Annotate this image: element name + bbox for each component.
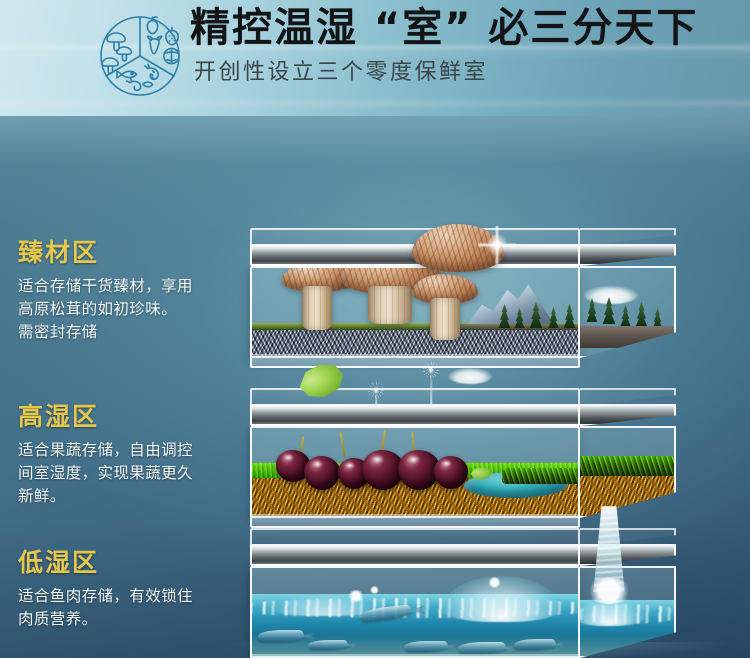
dandelion-pappus xyxy=(423,362,439,378)
page-subtitle: 开创性设立三个零度保鲜室 xyxy=(194,58,488,88)
cherry-scene-side xyxy=(580,428,674,516)
page-title: 精控温湿 “室” 必三分天下 xyxy=(190,4,698,52)
sparkle-icon xyxy=(478,226,516,264)
drawer-metal-rim xyxy=(250,404,580,426)
header-band: 精控温湿 “室” 必三分天下 开创性设立三个零度保鲜室 xyxy=(0,0,750,116)
zone-heading: 低湿区 xyxy=(18,548,246,578)
drawer-metal-rim-side xyxy=(580,404,676,426)
zone-body-line: 高原松茸的如初珍味。 xyxy=(18,298,246,321)
drawer-high-humidity[interactable] xyxy=(250,388,720,538)
drawer-front-glass xyxy=(250,426,580,518)
drawer-front-glass xyxy=(250,566,580,658)
cherry-stalk xyxy=(340,432,346,458)
zone-body-line: 需密封存储 xyxy=(18,321,246,344)
splash xyxy=(488,577,501,588)
splash xyxy=(348,590,364,602)
drawer-premium-ingredient[interactable] xyxy=(250,228,720,378)
pine-tree xyxy=(620,305,631,326)
drawer-base-slab xyxy=(250,514,580,528)
splash xyxy=(586,578,632,604)
drawer-side-glass xyxy=(580,266,676,358)
zone-body-line: 适合果蔬存储，自由调控 xyxy=(18,439,246,462)
zone-body-line: 肉质营养。 xyxy=(18,608,246,631)
cherry-meadow-scene xyxy=(252,428,578,516)
ocean-fish-scene xyxy=(252,568,578,656)
moss-bank xyxy=(580,456,676,476)
dirt-ledge xyxy=(580,326,676,348)
drawer-metal-rim-side xyxy=(580,244,676,266)
moss-bank xyxy=(502,468,580,484)
zone-description-high-humidity: 高湿区 适合果蔬存储，自由调控 间室湿度，实现果蔬更久 新鲜。 xyxy=(18,402,246,508)
zone-body-line: 适合存储干货臻材，享用 xyxy=(18,275,246,298)
product-feature-banner: 精控温湿 “室” 必三分天下 开创性设立三个零度保鲜室 臻材区 适合存储干货臻材… xyxy=(0,0,750,658)
zone-body: 适合鱼肉存储，有效锁住 肉质营养。 xyxy=(18,585,246,631)
zone-description-low-humidity: 低湿区 适合鱼肉存储，有效锁住 肉质营养。 xyxy=(18,548,246,631)
dandelion-seed xyxy=(422,366,440,406)
splash xyxy=(370,586,379,594)
zone-heading: 臻材区 xyxy=(18,238,246,268)
drawer-side-glass xyxy=(580,426,676,518)
dandelion-seed xyxy=(368,386,384,408)
zone-body: 适合存储干货臻材，享用 高原松茸的如初珍味。 需密封存储 xyxy=(18,275,246,344)
zone-body: 适合果蔬存储，自由调控 间室湿度，实现果蔬更久 新鲜。 xyxy=(18,439,246,508)
drawer-metal-rim xyxy=(250,544,580,566)
zone-heading: 高湿区 xyxy=(18,402,246,432)
cloud xyxy=(448,368,492,384)
zone-body-line: 新鲜。 xyxy=(18,485,246,508)
header-text-group: 精控温湿 “室” 必三分天下 开创性设立三个零度保鲜室 xyxy=(190,0,750,116)
drawer-base-slab xyxy=(250,354,580,368)
zone-description-premium-ingredient: 臻材区 适合存储干货臻材，享用 高原松茸的如初珍味。 需密封存储 xyxy=(18,238,246,344)
drawer-base-slab xyxy=(250,654,580,658)
zone-body-line: 间室湿度，实现果蔬更久 xyxy=(18,462,246,485)
snow-mountain xyxy=(468,280,554,324)
drawer-metal-rim-side xyxy=(580,544,676,566)
wave-crest xyxy=(442,576,560,622)
pine-tree xyxy=(635,302,648,327)
dandelion-pappus xyxy=(368,382,384,398)
zone-body-line: 适合鱼肉存储，有效锁住 xyxy=(18,585,246,608)
mushroom-scene-side xyxy=(580,268,674,356)
soil-layer xyxy=(580,472,674,516)
three-zone-food-circle-icon xyxy=(92,6,188,106)
drawer-low-humidity[interactable] xyxy=(250,528,720,658)
